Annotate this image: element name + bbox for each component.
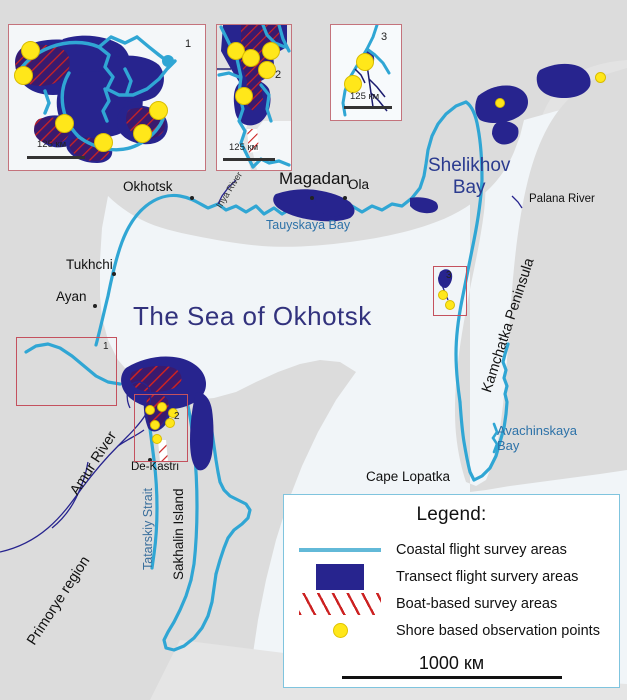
locator-number-3: 3 (446, 270, 452, 281)
city-dot-ola (343, 196, 347, 200)
legend-label-coastal: Coastal flight survey areas (396, 542, 567, 558)
observation-point (94, 133, 113, 152)
observation-point (258, 61, 276, 79)
legend-item-coastal: Coastal flight survey areas (284, 536, 619, 563)
label-avachinskaya-bay: Avachinskaya Bay (497, 424, 577, 454)
observation-point (14, 66, 33, 85)
map-figure: Okhotsk Magadan Ola Tukhchi Ayan De-Kast… (0, 0, 627, 700)
scale-bar (342, 676, 562, 679)
label-cape-lopatka: Cape Lopatka (366, 470, 450, 484)
observation-point (21, 41, 40, 60)
inset-scale-label-3: 125 км (350, 91, 379, 102)
transect-shelikhov-ne (537, 64, 591, 98)
avach-line1: Avachinskaya (497, 424, 577, 439)
inset-scale-label-2: 125 км (229, 142, 258, 153)
coastal-line-swatch (284, 548, 396, 552)
observation-point (262, 42, 280, 60)
legend-items: Coastal flight survey areas Transect fli… (284, 536, 619, 644)
legend-label-boat: Boat-based survey areas (396, 596, 557, 612)
inset-map-2: 2 125 км (216, 24, 292, 171)
inset-scale-bar-3 (344, 106, 392, 109)
legend-label-transect: Transect flight survery areas (396, 569, 578, 585)
observation-point (495, 98, 505, 108)
label-ayan: Ayan (56, 290, 87, 304)
shelikhov-line1: Shelikhov (428, 155, 510, 177)
inset-number-2: 2 (275, 69, 281, 81)
city-dot-ayan (93, 304, 97, 308)
label-de-kastri: De-Kastri (131, 462, 179, 474)
observation-point (149, 101, 168, 120)
label-sea-of-okhotsk: The Sea of Okhotsk (133, 303, 372, 329)
locator-number-1: 1 (103, 341, 109, 352)
inset-map-3: 3 125 км (330, 24, 402, 121)
shelikhov-line2: Bay (428, 177, 510, 199)
locator-box-1 (16, 337, 117, 406)
map-scale: 1000 км (284, 653, 619, 679)
inset-scale-label-1: 125 км (37, 139, 66, 150)
observation-point (356, 53, 374, 71)
label-tukhchi: Tukhchi (66, 258, 113, 272)
observation-point (55, 114, 74, 133)
legend-item-transect: Transect flight survery areas (284, 563, 619, 590)
inset-scale-bar-1 (27, 156, 85, 159)
legend-item-shore: Shore based observation points (284, 617, 619, 644)
legend-panel: Legend: Coastal flight survey areas Tran… (283, 494, 620, 688)
inset-number-1: 1 (185, 38, 191, 50)
label-ola: Ola (348, 178, 369, 192)
label-palana-river: Palana River (529, 194, 595, 206)
legend-label-shore: Shore based observation points (396, 623, 600, 639)
city-dot-tukhchi (112, 272, 116, 276)
legend-item-boat: Boat-based survey areas (284, 590, 619, 617)
label-sakhalin-island: Sakhalin Island (172, 488, 186, 580)
boat-hatch-swatch (284, 593, 396, 615)
inset-number-3: 3 (381, 31, 387, 43)
shore-dot-swatch (284, 623, 396, 638)
city-dot-okhotsk (190, 196, 194, 200)
scale-label: 1000 км (284, 653, 619, 674)
observation-point (242, 49, 260, 67)
observation-point (133, 124, 152, 143)
transect-rect-swatch (284, 564, 396, 590)
observation-point (595, 72, 606, 83)
label-tauyskaya-bay: Tauyskaya Bay (266, 219, 350, 232)
legend-title: Legend: (284, 504, 619, 526)
inset-map-1: 1 125 км (8, 24, 206, 171)
city-dot-magadan (310, 196, 314, 200)
locator-box-2 (134, 394, 188, 462)
transect-sakhalin-ne (190, 392, 214, 470)
label-tatarskiy-strait: Tatarskiy Strait (142, 488, 155, 570)
label-shelikhov-bay: Shelikhov Bay (428, 155, 510, 199)
label-magadan: Magadan (279, 170, 350, 187)
locator-number-2: 2 (174, 411, 180, 422)
label-okhotsk: Okhotsk (123, 180, 173, 194)
observation-point (235, 87, 253, 105)
inset-scale-bar-2 (223, 158, 275, 161)
avach-line2: Bay (497, 439, 577, 454)
